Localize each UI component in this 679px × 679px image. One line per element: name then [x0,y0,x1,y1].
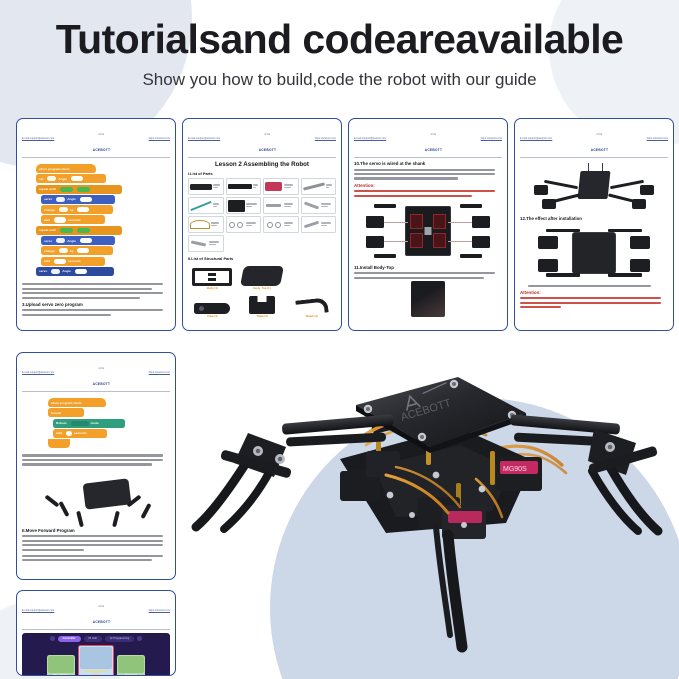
app-model-smart-car[interactable]: Smart Car [117,655,145,676]
attention-label: Attention: [354,183,502,188]
block-repeat-until-180: repeat until [36,185,122,194]
block-set-angle: setAngle [36,174,106,183]
part-item [263,216,299,233]
acebott-logo: ACE ACEBOTT [93,595,111,627]
value-pill [56,197,65,202]
step-11-body [354,272,502,279]
structural-part [287,263,336,290]
tab-ai-programming[interactable]: AI Programming [105,636,134,642]
section-body-1 [22,535,170,551]
block-when-program-starts: when program starts [48,398,106,407]
block-wait-seconds-2: waitseconds [41,257,105,266]
block-change-by-2: changeby [41,246,113,255]
part-item [226,216,262,233]
lesson-title: Lesson 2 Assembling the Robot [188,161,336,168]
website-link: https://acebott.com [647,138,668,140]
servo-motor-right: MG90S [496,457,542,491]
section-heading: II.Move Forward Program [22,528,170,533]
model-thumbnail [80,647,112,669]
move-forward-program-card[interactable]: E-mail:support@acebott.com ACE ACEBOTT h… [16,352,176,580]
app-settings-icon[interactable] [137,636,142,641]
isometric-assembly-diagram [520,161,668,213]
section-heading: 3.Upload servo zero program [22,302,170,307]
servo-motor [538,236,558,249]
part-item [263,178,299,195]
block-forever: forever [48,408,84,417]
installation-effect-card[interactable]: E-mail:support@acebott.com ACE ACEBOTT h… [514,118,674,331]
document-header: E-mail:support@acebott.com ACE ACEBOTT h… [22,595,170,630]
value-pill [66,431,72,436]
servo-motor [538,259,558,272]
attention-text [520,297,668,308]
scratch-block-stack: when program starts setAngle repeat unti… [22,161,170,279]
acebott-logo: ACE ACEBOTT [93,123,111,155]
acebott-logo: ACE ACEBOTT [259,123,277,155]
step-10-body [354,169,502,180]
app-model-carousel: Biped Robot Quadruped Bionic Spider Smar… [25,645,167,676]
controller-board [405,206,451,256]
app-model-quadruped-spider[interactable]: Quadruped Bionic Spider [78,645,114,676]
website-link: https://acebott.com [149,372,170,374]
servo-port [410,233,423,248]
acebott-logo: ACE ACEBOTT [425,123,443,155]
acebott-logo: ACE ACEBOTT [591,123,609,155]
document-header: E-mail:support@acebott.com ACE ACEBOTT h… [354,123,502,158]
block-change-by: changeby [41,205,113,214]
part-item [301,216,337,233]
app-avatar-icon[interactable] [50,636,55,641]
document-header: E-mail:support@acebott.com ACE ACEBOTT h… [22,123,170,158]
part-item [188,216,224,233]
servo-port [410,214,423,229]
parts-section-heading: I.List of Parts [188,171,336,176]
robot-body-plate [572,232,616,274]
infographic-page: Tutorialsand codeareavailable Show you h… [0,0,679,679]
value-pill [51,269,60,274]
top-view-diagram [520,224,668,282]
page-subtitle: Show you how to build,code the robot wit… [0,70,679,90]
block-wait-seconds: waitseconds [41,215,105,224]
part-item [301,197,337,214]
app-tab-bar: Controller IR Hub AI Programming [25,636,167,642]
section-body-2 [22,555,170,562]
servo-port [433,214,446,229]
step-11-heading: 11.Install Body-Top [354,265,502,270]
step-12-heading: 12.The effect after installation [520,216,668,221]
operator-pill [77,187,90,192]
step-10-heading: 10.The servo is wired at the shank [354,161,502,166]
app-action-button[interactable] [152,675,170,676]
value-pill [71,176,83,181]
website-link: https://acebott.com [149,610,170,612]
block-robots-standby: Robots mode [53,419,125,428]
block-loop-end [48,439,70,448]
value-pill [75,269,87,274]
value-pill [59,207,68,212]
scratch-block-stack: when program starts forever Robots mode … [22,395,170,451]
acebott-logo: ACE ACEBOTT [93,357,111,389]
block-servo-angle-2: servoAngle [41,236,115,245]
operator-pill [60,187,73,192]
block-servo-angle: servoAngle [41,195,115,204]
servo-label: MG90S [503,466,527,473]
dropdown-pill[interactable] [71,421,89,426]
value-pill [47,176,56,181]
structural-parts-grid: Body (1) Body_Top (1) Claw (4) Thigh (4)… [188,263,336,318]
part-item [301,178,337,195]
mcu-chip [425,227,432,235]
model-thumbnail [48,656,74,673]
model-thumbnail [118,656,144,673]
robot-leg-rear-center [418,497,486,647]
closing-text [520,285,668,287]
robot-standby-photo [22,469,170,525]
servo-motor [472,236,490,248]
quadruped-bionic-spider-robot: ACEBOTT [190,355,670,673]
header: Tutorialsand codeareavailable Show you h… [0,0,679,90]
tab-controller[interactable]: Controller [58,636,81,642]
part-item [263,197,299,214]
servo-motor [366,236,384,248]
document-header: E-mail:support@acebott.com ACE ACEBOTT h… [22,357,170,392]
structural-part: Body (1) [188,263,237,290]
attention-label: Attention: [520,290,668,295]
app-model-biped[interactable]: Biped Robot [47,655,75,676]
tab-ir-hub[interactable]: IR Hub [84,636,102,642]
block-servo-angle-90: servoAngle [36,267,114,276]
part-item [226,178,262,195]
part-item [188,178,224,195]
value-pill [54,217,66,222]
attention-text [354,190,502,197]
servo-motor [472,216,490,228]
part-item [226,197,262,214]
structural-part: Shank (4) [287,291,336,318]
part-item [188,197,224,214]
app-control-card[interactable]: E-mail:support@acebott.com ACE ACEBOTT h… [16,590,176,676]
page-title: Tutorialsand codeareavailable [0,16,679,63]
structural-part: Body_Top (1) [238,263,287,290]
website-link: https://acebott.com [149,138,170,140]
mobile-app-screenshot[interactable]: Controller IR Hub AI Programming Biped R… [22,633,170,676]
assembly-photo [354,281,502,317]
servo-port [433,233,446,248]
card-body-text [22,454,170,465]
value-pill [56,238,65,243]
block-repeat-until-0: repeat until [36,226,122,235]
value-pill [80,197,92,202]
support-email: E-mail:support@acebott.com [520,138,552,140]
structural-part: Claw (4) [188,291,237,318]
support-email: E-mail:support@acebott.com [22,372,54,374]
block-wait-seconds: waitseconds [53,429,107,438]
website-link: https://acebott.com [315,138,336,140]
support-email: E-mail:support@acebott.com [354,138,386,140]
servo-motor [630,236,650,249]
servo-wiring-diagram [354,200,502,262]
robot-illustration: ACEBOTT [190,355,670,673]
value-pill [77,248,89,253]
support-email: E-mail:support@acebott.com [188,138,220,140]
card-body-text [22,283,170,299]
value-pill [59,248,68,253]
document-header: E-mail:support@acebott.com ACE ACEBOTT h… [188,123,336,158]
part-item [188,235,224,252]
servo-zero-program-card[interactable]: E-mail:support@acebott.com ACE ACEBOTT h… [16,118,176,331]
servo-wiring-card[interactable]: E-mail:support@acebott.com ACE ACEBOTT h… [348,118,508,331]
operator-pill [77,228,90,233]
structural-section-heading: II.List of Structural Parts [188,256,336,261]
servo-motor [630,259,650,272]
block-when-program-starts: when program starts [36,164,96,173]
parts-grid [188,178,336,252]
section-body-text [22,309,170,316]
support-email: E-mail:support@acebott.com [22,610,54,612]
value-pill [54,259,66,264]
value-pill [80,238,92,243]
support-email: E-mail:support@acebott.com [22,138,54,140]
assembling-parts-card[interactable]: E-mail:support@acebott.com ACE ACEBOTT h… [182,118,342,331]
value-pill [77,207,89,212]
website-link: https://acebott.com [481,138,502,140]
operator-pill [60,228,73,233]
structural-part: Thigh (4) [238,291,287,318]
document-header: E-mail:support@acebott.com ACE ACEBOTT h… [520,123,668,158]
servo-motor [366,216,384,228]
